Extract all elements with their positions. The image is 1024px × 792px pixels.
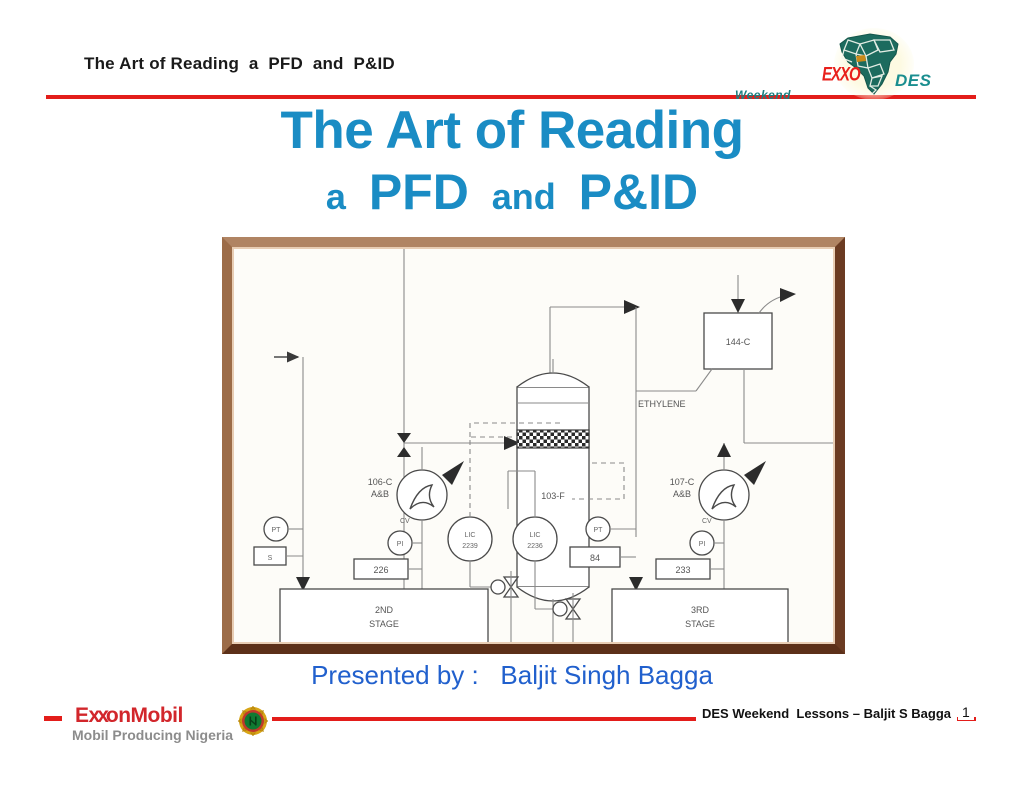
slide-header-title: The Art of Reading a PFD and P&ID: [84, 54, 395, 74]
exchanger-left-tag: 106-C: [368, 477, 393, 487]
title-word-pfd: PFD: [369, 164, 469, 220]
sc-left-label: S: [268, 555, 273, 562]
title-word-a: a: [326, 176, 346, 217]
exxonmobil-wordmark: ExxonMobil: [75, 704, 183, 728]
lic-1-number: 2239: [462, 543, 478, 550]
exchanger-right-tag: 107-C: [670, 477, 695, 487]
exchanger-left-subtag: A&B: [371, 489, 389, 499]
pi-right-label: PI: [699, 541, 706, 548]
pi-left-label: PI: [397, 541, 404, 548]
title-word-pid: P&ID: [579, 164, 698, 220]
cooler-tag-label: 144-C: [726, 337, 751, 347]
stage-2-label-line1: 2ND: [375, 605, 394, 615]
lic-1-label: LIC: [465, 532, 476, 539]
lic-2-number: 2236: [527, 543, 543, 550]
footer-left-dash: [44, 716, 62, 721]
sc-right-label: 84: [590, 553, 600, 563]
cv-right-label: CV: [702, 518, 712, 525]
lic-2-label: LIC: [530, 532, 541, 539]
presented-by-line: Presented by : Baljit Singh Bagga: [0, 660, 1024, 691]
des-logo-red-word: EXXO: [822, 63, 860, 85]
exxon-double-x: xx: [89, 704, 106, 727]
title-line-1: The Art of Reading: [0, 104, 1024, 157]
main-title-block: The Art of Reading a PFD and P&ID: [0, 104, 1024, 217]
pfd-drawing: 103-F 144-C ETHYLENE 106-C A&B CV PI: [232, 247, 835, 644]
des-logo-weekend-word: Weekend: [735, 88, 791, 102]
footer-note-text: DES Weekend Lessons – Baljit S Bagga: [696, 706, 957, 721]
page-number: 1: [958, 704, 974, 720]
pt-right-label: PT: [594, 527, 604, 534]
box-right-label: 233: [675, 565, 690, 575]
ethylene-label: ETHYLENE: [638, 399, 686, 409]
stage-3-label-line2: STAGE: [685, 619, 715, 629]
des-logo-text: DES: [895, 71, 931, 91]
exxon-prefix: E: [75, 704, 89, 727]
exxon-suffix: onMobil: [106, 704, 183, 727]
title-word-and: and: [492, 176, 556, 217]
box-left-label: 226: [373, 565, 388, 575]
pt-left-label: PT: [272, 527, 282, 534]
vessel-tag-label: 103-F: [541, 491, 565, 501]
stage-2-label-line2: STAGE: [369, 619, 399, 629]
nnpc-gear-logo-icon: [238, 706, 268, 736]
stage-3-label-line1: 3RD: [691, 605, 710, 615]
cv-left-label: CV: [400, 518, 410, 525]
title-line-2: a PFD and P&ID: [0, 167, 1024, 217]
process-flow-diagram-frame: 103-F 144-C ETHYLENE 106-C A&B CV PI: [222, 237, 845, 654]
exchanger-right-subtag: A&B: [673, 489, 691, 499]
mobil-producing-nigeria-subtitle: Mobil Producing Nigeria: [72, 727, 233, 743]
